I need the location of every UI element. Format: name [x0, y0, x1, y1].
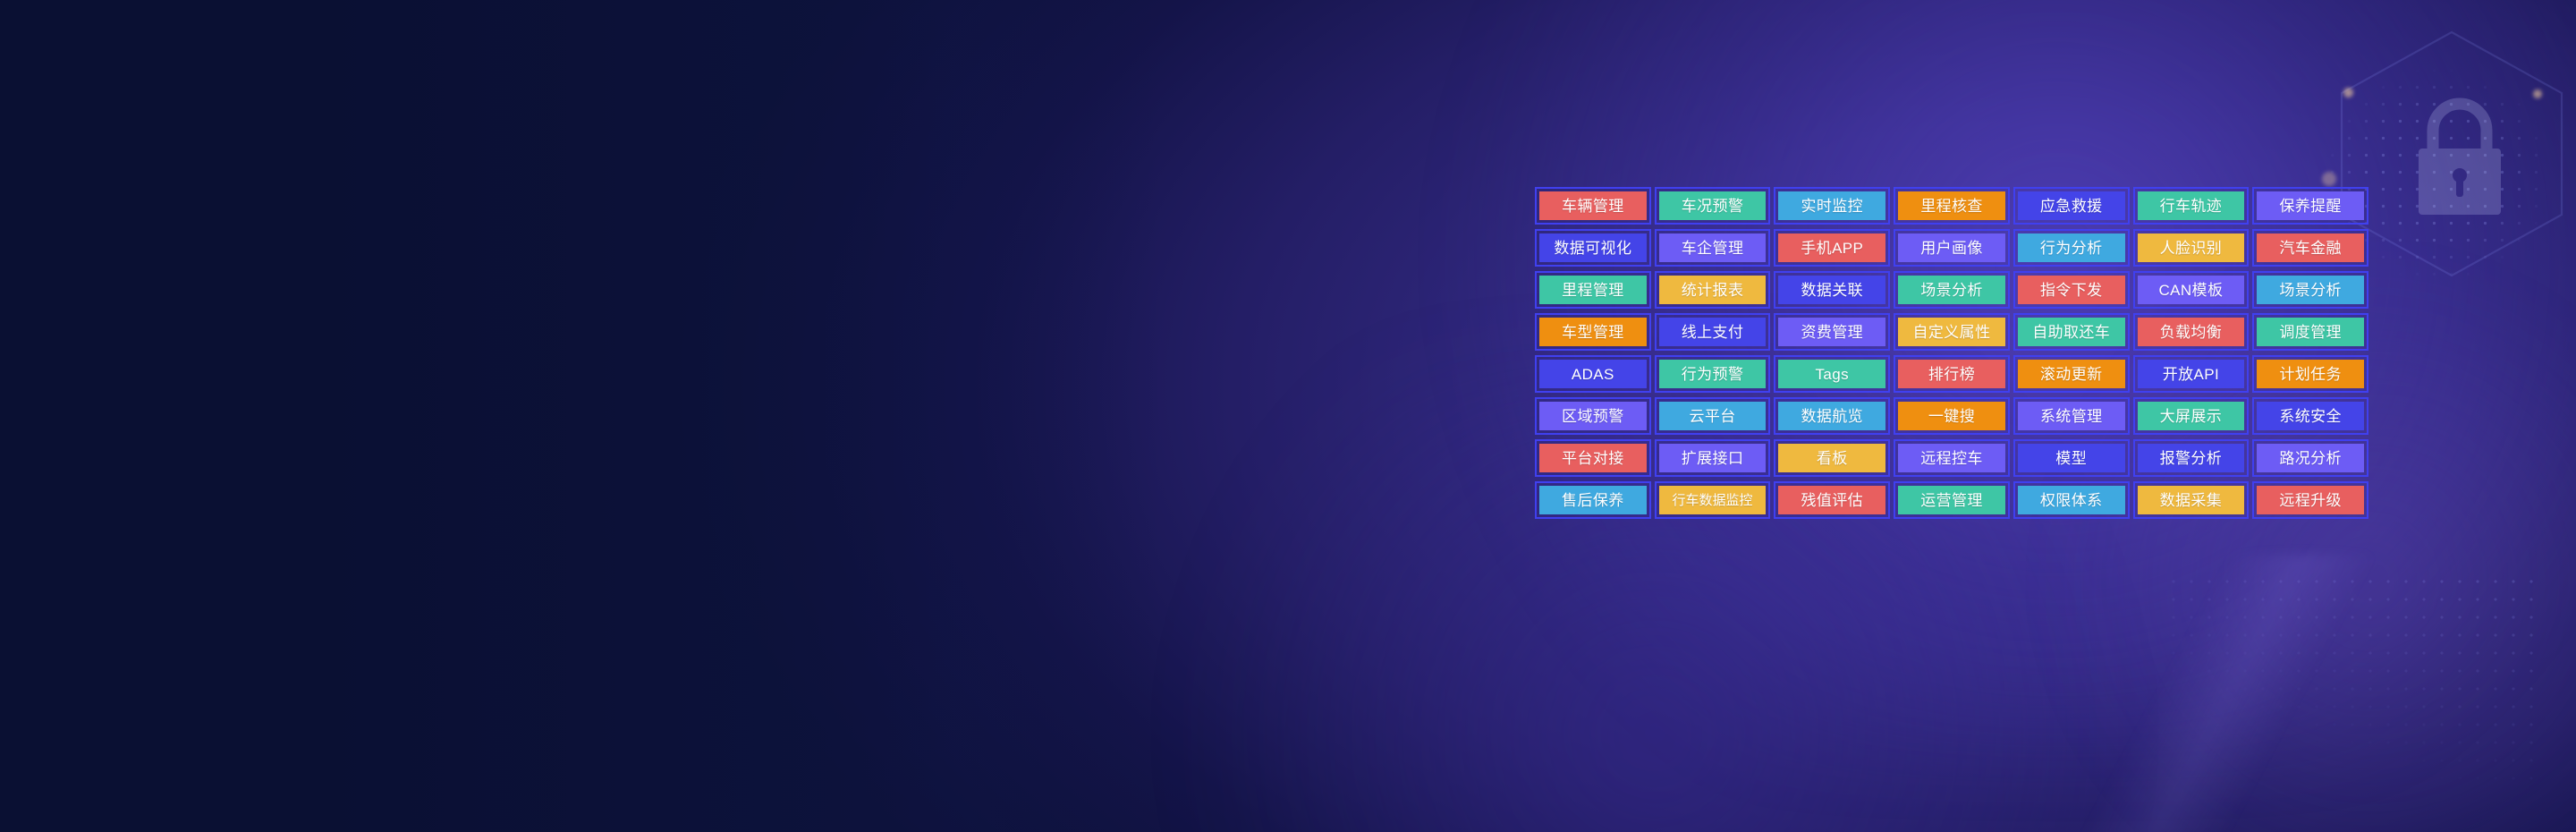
tag-label: 实时监控	[1778, 191, 1885, 220]
tag-label: 保养提醒	[2257, 191, 2364, 220]
tag-label: 车型管理	[1539, 318, 1647, 346]
tag-label: 应急救援	[2018, 191, 2125, 220]
tag-button[interactable]: 数据关联	[1774, 271, 1890, 309]
tag-button[interactable]: 车型管理	[1535, 313, 1651, 351]
tag-button[interactable]: 应急救援	[2013, 187, 2130, 225]
tag-label: 数据关联	[1778, 276, 1885, 304]
tag-label: 开放API	[2138, 360, 2245, 388]
tag-button[interactable]: 人脸识别	[2133, 229, 2250, 267]
tag-label: 看板	[1778, 444, 1885, 472]
tag-label: 人脸识别	[2138, 233, 2245, 262]
tag-label: 系统管理	[2018, 402, 2125, 430]
tag-button[interactable]: 平台对接	[1535, 439, 1651, 477]
tag-button[interactable]: 运营管理	[1894, 481, 2010, 519]
tag-label: 运营管理	[1898, 486, 2005, 514]
tag-button[interactable]: CAN模板	[2133, 271, 2250, 309]
tag-label: Tags	[1778, 360, 1885, 388]
tag-button[interactable]: 自定义属性	[1894, 313, 2010, 351]
tag-button[interactable]: 指令下发	[2013, 271, 2130, 309]
tag-label: ADAS	[1539, 360, 1647, 388]
tag-button[interactable]: 残值评估	[1774, 481, 1890, 519]
tag-button[interactable]: 扩展接口	[1655, 439, 1771, 477]
tag-button[interactable]: 系统安全	[2252, 397, 2368, 435]
lock-icon	[2406, 89, 2513, 224]
tag-label: 场景分析	[2257, 276, 2364, 304]
tag-label: 行为预警	[1659, 360, 1767, 388]
tag-grid: 车辆管理车况预警实时监控里程核查应急救援行车轨迹保养提醒数据可视化车企管理手机A…	[1535, 187, 2368, 519]
tag-label: 自定义属性	[1898, 318, 2005, 346]
tag-label: 车企管理	[1659, 233, 1767, 262]
tag-label: 数据采集	[2138, 486, 2245, 514]
tag-label: 统计报表	[1659, 276, 1767, 304]
tag-label: 自助取还车	[2018, 318, 2125, 346]
tag-label: 云平台	[1659, 402, 1767, 430]
tag-label: 数据航览	[1778, 402, 1885, 430]
tag-label: 区域预警	[1539, 402, 1647, 430]
tag-button[interactable]: 调度管理	[2252, 313, 2368, 351]
light-streak	[1995, 555, 2460, 832]
tag-label: 计划任务	[2257, 360, 2364, 388]
tag-button[interactable]: 统计报表	[1655, 271, 1771, 309]
tag-button[interactable]: 车辆管理	[1535, 187, 1651, 225]
tag-label: 指令下发	[2018, 276, 2125, 304]
tag-button[interactable]: 车企管理	[1655, 229, 1771, 267]
tag-button[interactable]: 车况预警	[1655, 187, 1771, 225]
tag-button[interactable]: 线上支付	[1655, 313, 1771, 351]
tag-label: 报警分析	[2138, 444, 2245, 472]
tag-label: 排行榜	[1898, 360, 2005, 388]
tag-button[interactable]: 数据采集	[2133, 481, 2250, 519]
tag-button[interactable]: 汽车金融	[2252, 229, 2368, 267]
tag-button[interactable]: 排行榜	[1894, 355, 2010, 393]
tag-button[interactable]: 行车轨迹	[2133, 187, 2250, 225]
tag-button[interactable]: 报警分析	[2133, 439, 2250, 477]
tag-button[interactable]: 行车数据监控	[1655, 481, 1771, 519]
tag-button[interactable]: 手机APP	[1774, 229, 1890, 267]
tag-label: 远程升级	[2257, 486, 2364, 514]
tag-label: 数据可视化	[1539, 233, 1647, 262]
tag-button[interactable]: Tags	[1774, 355, 1890, 393]
tag-label: 行为分析	[2018, 233, 2125, 262]
tag-button[interactable]: 远程升级	[2252, 481, 2368, 519]
tag-button[interactable]: 资费管理	[1774, 313, 1890, 351]
tag-button[interactable]: 场景分析	[1894, 271, 2010, 309]
tag-button[interactable]: 负载均衡	[2133, 313, 2250, 351]
tag-label: 资费管理	[1778, 318, 1885, 346]
tag-label: 一键搜	[1898, 402, 2005, 430]
tag-button[interactable]: 行为分析	[2013, 229, 2130, 267]
tag-button[interactable]: 里程核查	[1894, 187, 2010, 225]
tag-button[interactable]: 路况分析	[2252, 439, 2368, 477]
spark-dot	[2533, 89, 2542, 98]
tag-label: CAN模板	[2138, 276, 2245, 304]
screen: 车辆管理车况预警实时监控里程核查应急救援行车轨迹保养提醒数据可视化车企管理手机A…	[0, 0, 2576, 832]
tag-label: 售后保养	[1539, 486, 1647, 514]
tag-label: 权限体系	[2018, 486, 2125, 514]
tag-button[interactable]: 场景分析	[2252, 271, 2368, 309]
tag-button[interactable]: 云平台	[1655, 397, 1771, 435]
tag-label: 行车轨迹	[2138, 191, 2245, 220]
tag-button[interactable]: 行为预警	[1655, 355, 1771, 393]
tag-button[interactable]: ADAS	[1535, 355, 1651, 393]
tag-button[interactable]: 里程管理	[1535, 271, 1651, 309]
tag-button[interactable]: 大屏展示	[2133, 397, 2250, 435]
tag-label: 里程核查	[1898, 191, 2005, 220]
tag-button[interactable]: 远程控车	[1894, 439, 2010, 477]
tag-label: 路况分析	[2257, 444, 2364, 472]
tag-button[interactable]: 滚动更新	[2013, 355, 2130, 393]
tag-label: 里程管理	[1539, 276, 1647, 304]
tag-button[interactable]: 权限体系	[2013, 481, 2130, 519]
tag-button[interactable]: 售后保养	[1535, 481, 1651, 519]
tag-button[interactable]: 系统管理	[2013, 397, 2130, 435]
spark-dot	[2322, 172, 2336, 186]
tag-label: 模型	[2018, 444, 2125, 472]
tag-label: 场景分析	[1898, 276, 2005, 304]
tag-label: 线上支付	[1659, 318, 1767, 346]
tag-label: 行车数据监控	[1659, 486, 1767, 514]
tag-label: 大屏展示	[2138, 402, 2245, 430]
tag-button[interactable]: 保养提醒	[2252, 187, 2368, 225]
tag-button[interactable]: 计划任务	[2252, 355, 2368, 393]
tag-label: 远程控车	[1898, 444, 2005, 472]
tag-button[interactable]: 用户画像	[1894, 229, 2010, 267]
tag-label: 车辆管理	[1539, 191, 1647, 220]
tag-label: 调度管理	[2257, 318, 2364, 346]
tag-button[interactable]: 数据航览	[1774, 397, 1890, 435]
background-left-fade	[0, 0, 1163, 832]
tag-button[interactable]: 模型	[2013, 439, 2130, 477]
tag-label: 滚动更新	[2018, 360, 2125, 388]
tag-button[interactable]: 开放API	[2133, 355, 2250, 393]
tag-label: 平台对接	[1539, 444, 1647, 472]
tag-label: 残值评估	[1778, 486, 1885, 514]
tag-button[interactable]: 数据可视化	[1535, 229, 1651, 267]
tag-button[interactable]: 实时监控	[1774, 187, 1890, 225]
tag-button[interactable]: 看板	[1774, 439, 1890, 477]
tag-label: 系统安全	[2257, 402, 2364, 430]
tag-label: 汽车金融	[2257, 233, 2364, 262]
tag-label: 扩展接口	[1659, 444, 1767, 472]
tag-button[interactable]: 自助取还车	[2013, 313, 2130, 351]
tag-button[interactable]: 区域预警	[1535, 397, 1651, 435]
tag-label: 手机APP	[1778, 233, 1885, 262]
spark-dot	[2343, 88, 2353, 98]
tag-label: 车况预警	[1659, 191, 1767, 220]
tag-button[interactable]: 一键搜	[1894, 397, 2010, 435]
tag-label: 负载均衡	[2138, 318, 2245, 346]
tag-label: 用户画像	[1898, 233, 2005, 262]
